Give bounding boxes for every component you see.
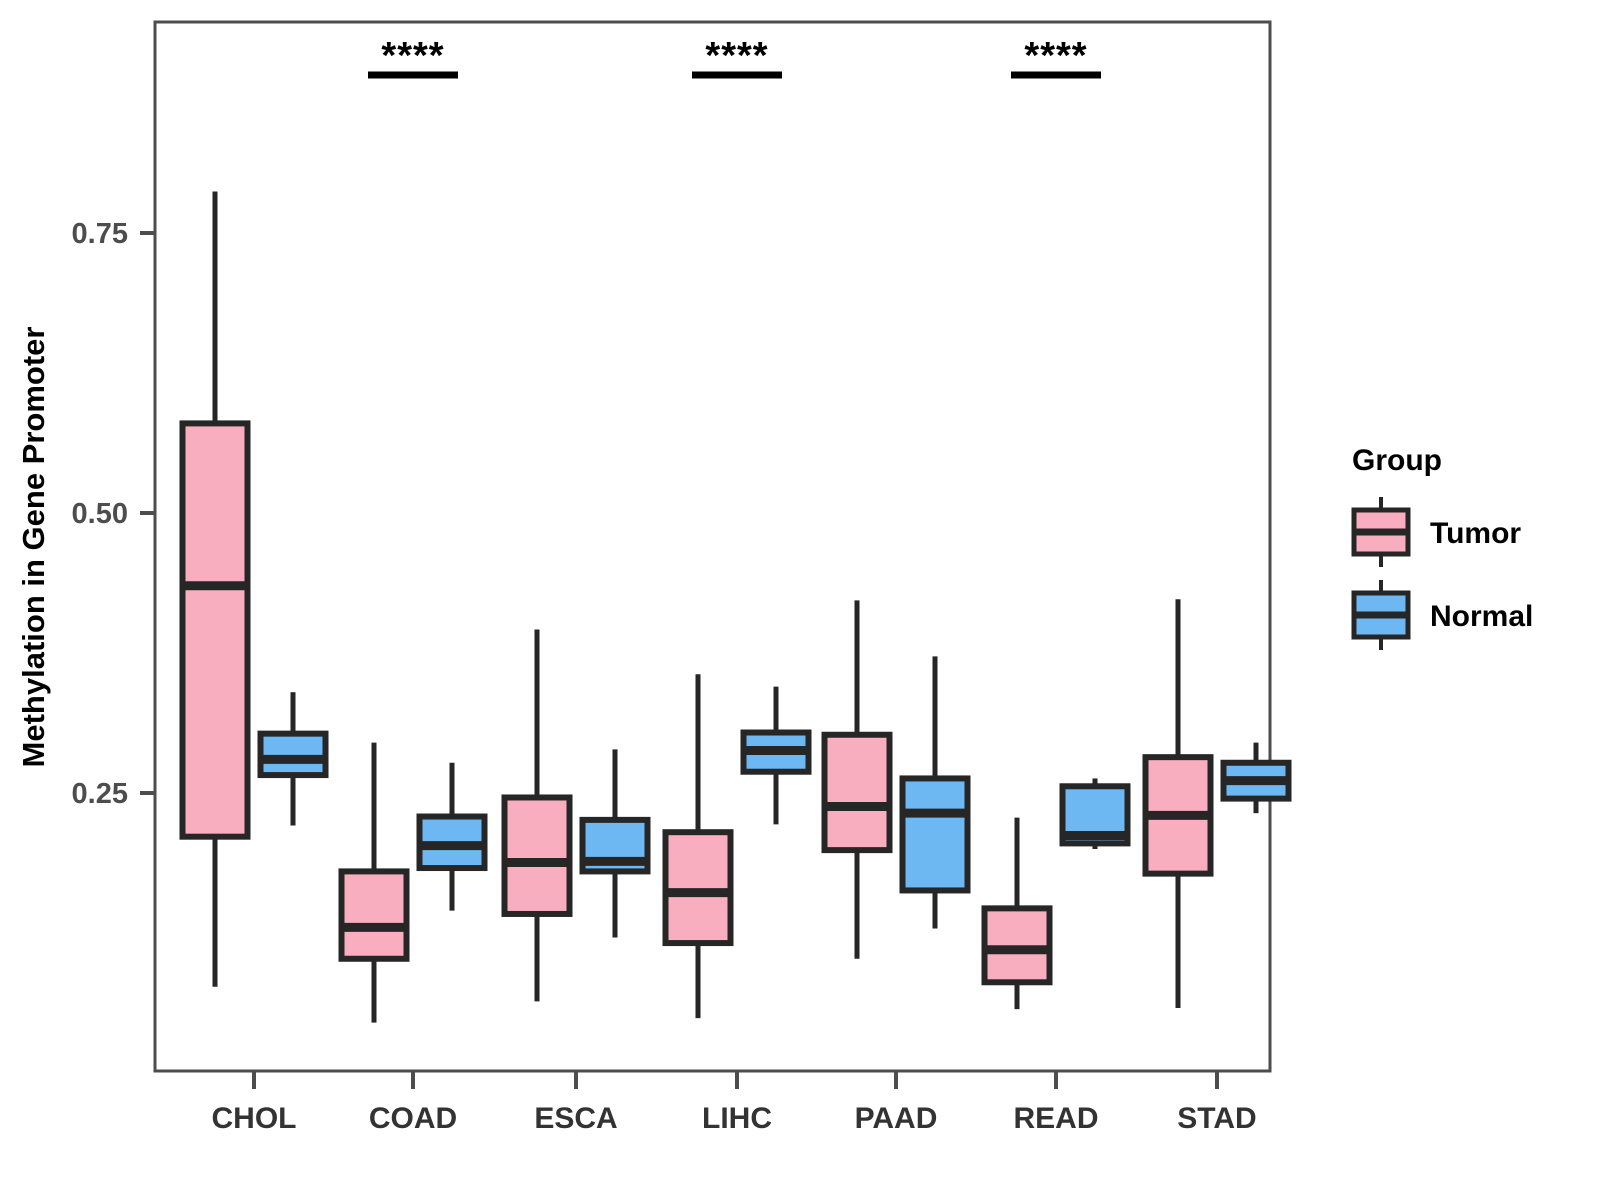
x-tick-label: PAAD — [855, 1102, 938, 1135]
x-tick-label: STAD — [1177, 1102, 1256, 1135]
x-tick-label: LIHC — [702, 1102, 772, 1135]
y-tick-label: 0.25 — [72, 778, 128, 810]
box-rect — [666, 832, 731, 943]
box-rect — [183, 423, 248, 836]
box-rect — [505, 797, 570, 913]
boxplot-figure: Methylation in Gene Promoter 0.750.500.2… — [0, 0, 1600, 1200]
box-rect — [825, 735, 890, 850]
y-tick-label: 0.75 — [72, 218, 128, 250]
box-rect — [903, 778, 968, 890]
x-tick-label: READ — [1013, 1102, 1098, 1135]
legend-item-label: Tumor — [1430, 517, 1521, 550]
significance-label: **** — [1024, 35, 1087, 77]
significance-label: **** — [705, 35, 768, 77]
significance-label: **** — [381, 35, 444, 77]
y-axis-title: Methylation in Gene Promoter — [16, 327, 51, 768]
x-tick-label: COAD — [369, 1102, 457, 1135]
x-tick-label: CHOL — [212, 1102, 297, 1135]
significance-coad: **** — [368, 35, 458, 77]
significance-read: **** — [1011, 35, 1101, 77]
legend-title: Group — [1352, 444, 1442, 477]
box-read-normal — [1061, 778, 1130, 849]
x-tick-label: ESCA — [534, 1102, 617, 1135]
box-rect — [342, 871, 407, 958]
significance-lihc: **** — [692, 35, 782, 77]
legend-item-label: Normal — [1430, 600, 1533, 633]
boxplot-canvas: Methylation in Gene Promoter 0.750.500.2… — [0, 0, 1600, 1200]
box-rect — [261, 734, 326, 775]
y-tick-label: 0.50 — [72, 498, 128, 530]
